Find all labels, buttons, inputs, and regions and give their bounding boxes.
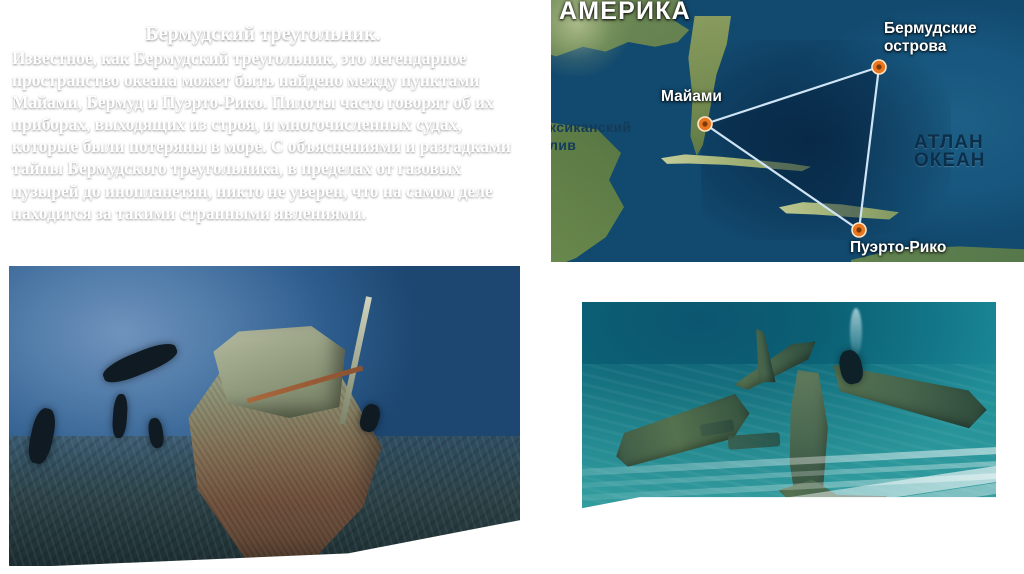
map-label-puerto-rico: Пуэрто-Рико bbox=[850, 239, 946, 257]
marker-bermuda-core bbox=[876, 64, 881, 69]
body-paragraph: Известное, как Бермудский треугольник, э… bbox=[12, 47, 532, 224]
map-label-miami: Майами bbox=[661, 88, 722, 106]
map-label-bermuda: Бермудские острова bbox=[884, 20, 977, 56]
photo-shipwreck bbox=[9, 266, 520, 569]
bermuda-triangle-map: АМЕРИКА Бермудские острова Майами ксикан… bbox=[551, 0, 1024, 262]
marker-puerto-rico-core bbox=[856, 227, 861, 232]
presentation-slide: Бермудский треугольник. Известное, как Б… bbox=[0, 0, 1024, 574]
map-label-atlantic-ocean: АТЛАН ОКЕАН bbox=[914, 134, 986, 170]
bermuda-triangle-shape bbox=[705, 67, 879, 230]
diver-bubbles bbox=[850, 308, 862, 356]
bottom-white-strip bbox=[0, 566, 1024, 574]
text-block: Бермудский треугольник. Известное, как Б… bbox=[12, 22, 532, 224]
map-label-america: АМЕРИКА bbox=[559, 2, 691, 20]
page-title: Бермудский треугольник. bbox=[12, 22, 532, 46]
map-label-gulf-of-mexico: ксиканский лив bbox=[551, 118, 631, 154]
marker-miami-core bbox=[702, 121, 707, 126]
